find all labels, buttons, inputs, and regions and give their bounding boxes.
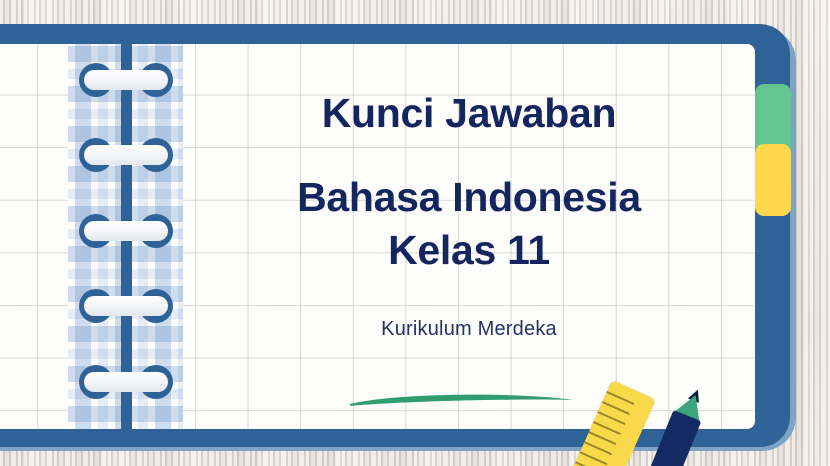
- binding-ring: [79, 214, 173, 248]
- binding-ring: [79, 138, 173, 172]
- binding-ring: [79, 365, 173, 399]
- binding-ring: [79, 289, 173, 323]
- index-tab-yellow[interactable]: [755, 144, 791, 216]
- ring-bar: [84, 145, 168, 165]
- page-subtitle: Kurikulum Merdeka: [381, 318, 557, 341]
- ring-bar: [84, 296, 168, 316]
- page-title-line-1: Kunci Jawaban: [322, 92, 617, 135]
- green-underline-stroke: [348, 389, 578, 411]
- title-block: Kunci Jawaban Bahasa Indonesia Kelas 11 …: [183, 44, 755, 429]
- binding-ring: [79, 63, 173, 97]
- page-title-line-2: Bahasa Indonesia: [297, 171, 641, 223]
- ring-bar: [84, 221, 168, 241]
- page-title-line-3: Kelas 11: [388, 224, 550, 276]
- ring-bar: [84, 372, 168, 392]
- slide-canvas: Kunci Jawaban Bahasa Indonesia Kelas 11 …: [0, 0, 830, 466]
- ring-bar: [84, 70, 168, 90]
